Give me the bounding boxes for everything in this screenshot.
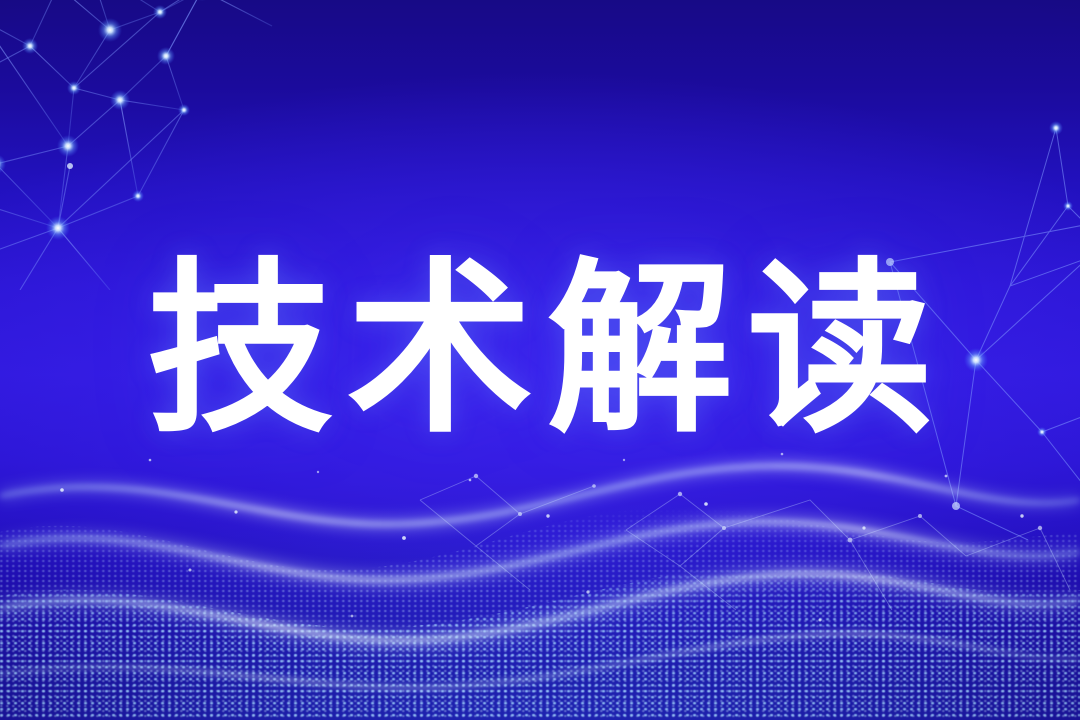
particle-wave-field bbox=[0, 420, 1080, 720]
page-title: 技术解读 bbox=[0, 258, 1080, 444]
banner-canvas: 技术解读 bbox=[0, 0, 1080, 720]
